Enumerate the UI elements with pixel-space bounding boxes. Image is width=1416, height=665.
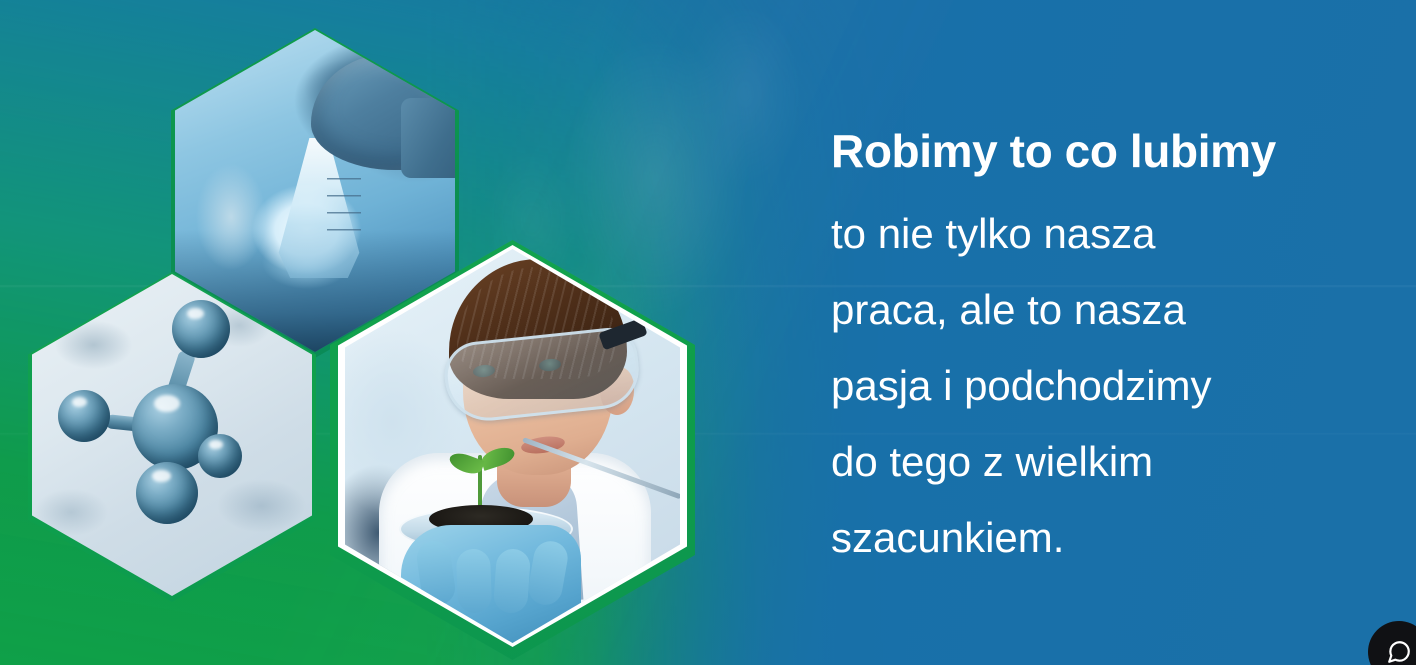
molecule-atom-left [58, 390, 110, 442]
hero-body-line-4: do tego z wielkim [831, 424, 1401, 500]
hero-body-line-5: szacunkiem. [831, 500, 1401, 576]
hero-text-block: Robimy to co lubimy to nie tylko nasza p… [831, 128, 1401, 576]
hero-body-line-3: pasja i podchodzimy [831, 348, 1401, 424]
hero-banner: Robimy to co lubimy to nie tylko nasza p… [0, 0, 1416, 665]
molecule-atom-right [198, 434, 242, 478]
hero-body-line-1: to nie tylko nasza [831, 196, 1401, 272]
flask-graduation-marks [327, 178, 361, 244]
glove-finger-3 [493, 548, 531, 614]
glove-cuff [401, 98, 455, 178]
hero-headline: Robimy to co lubimy [831, 128, 1401, 174]
hero-body-copy: to nie tylko nasza praca, ale to nasza p… [831, 196, 1401, 576]
chat-icon [1386, 639, 1412, 665]
glove-finger-2 [456, 548, 492, 613]
molecule-atom-bottom [136, 462, 198, 524]
hero-body-line-2: praca, ale to nasza [831, 272, 1401, 348]
molecule-atom-top [172, 300, 230, 358]
